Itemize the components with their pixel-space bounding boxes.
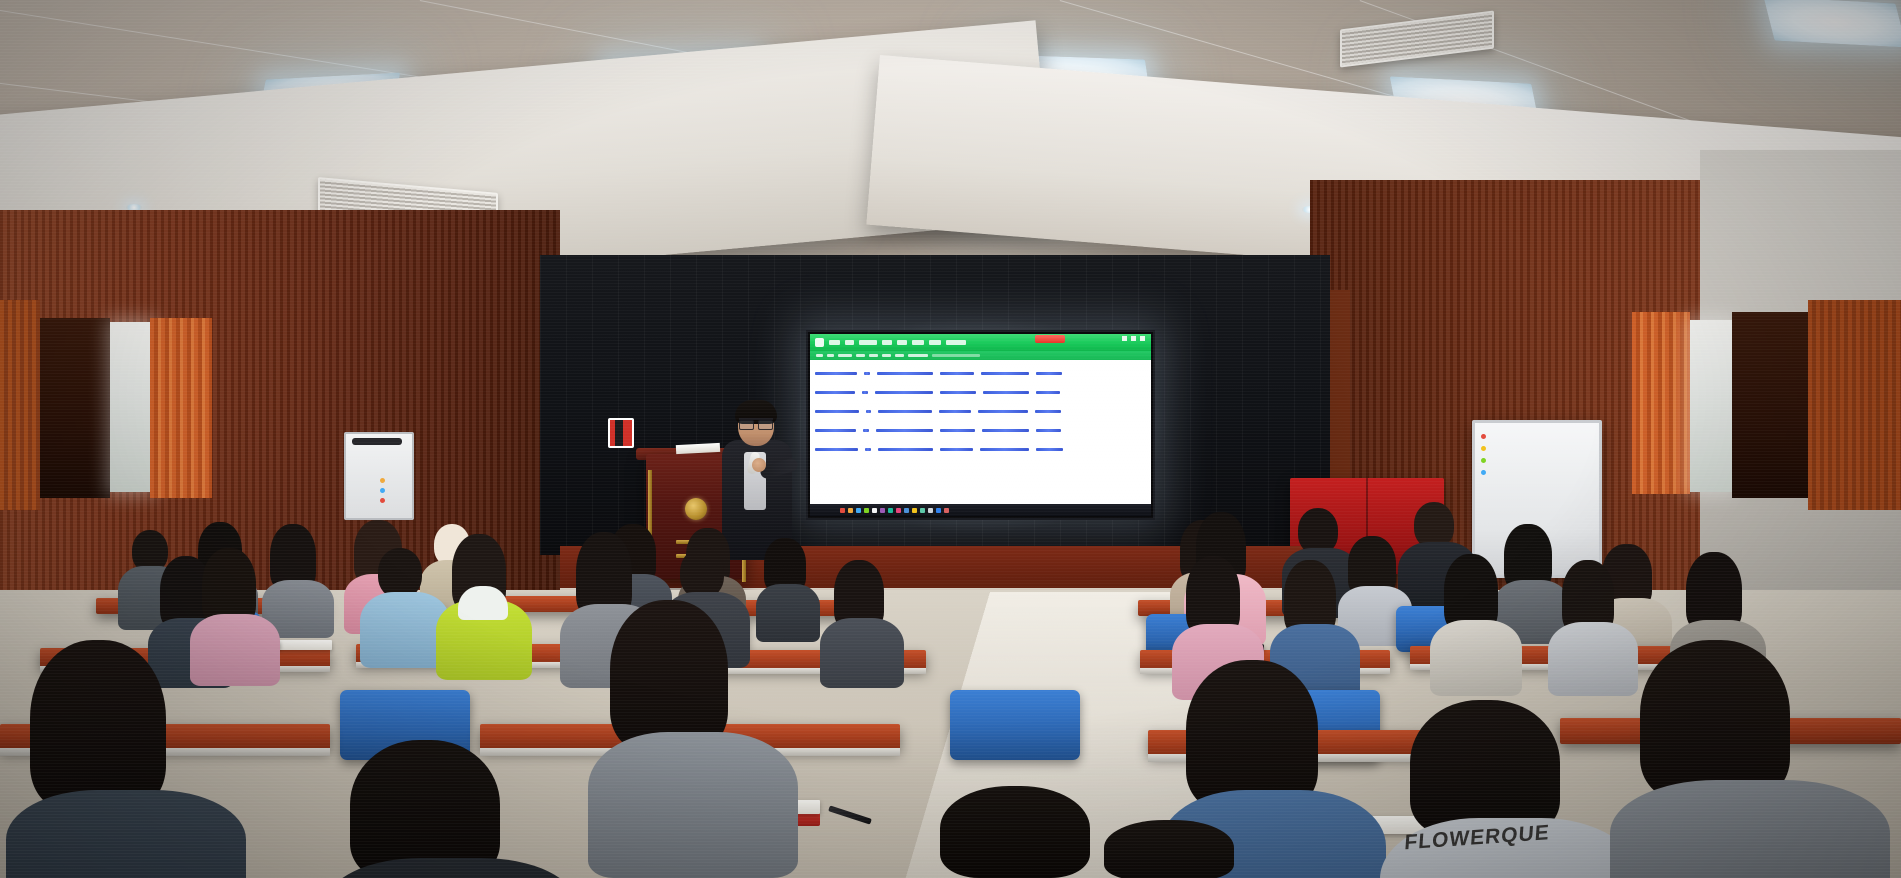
- toolbar-item[interactable]: [912, 340, 924, 345]
- magnet: [380, 478, 385, 483]
- projected-desktop: [810, 334, 1151, 516]
- app-subtoolbar[interactable]: [810, 351, 1151, 360]
- subtoolbar-item[interactable]: [869, 354, 878, 357]
- toolbar-item[interactable]: [859, 340, 877, 345]
- subtoolbar-item[interactable]: [856, 354, 865, 357]
- taskbar-icon[interactable]: [872, 508, 877, 513]
- taskbar-icon[interactable]: [912, 508, 917, 513]
- curtain: [0, 300, 40, 510]
- podium-emblem: [685, 498, 707, 520]
- table-row[interactable]: [815, 426, 1151, 435]
- toolbar-item[interactable]: [929, 340, 941, 345]
- subtoolbar-item[interactable]: [895, 354, 904, 357]
- taskbar-icon[interactable]: [840, 508, 845, 513]
- table-row[interactable]: [815, 388, 1151, 397]
- close-icon[interactable]: [1140, 336, 1145, 341]
- curtain: [150, 318, 212, 498]
- hood: [458, 586, 508, 620]
- minimize-icon[interactable]: [1122, 336, 1127, 341]
- curtain: [1808, 300, 1901, 510]
- table-row[interactable]: [815, 445, 1151, 454]
- notebook: [276, 640, 332, 650]
- magnet: [380, 488, 385, 493]
- taskbar-icon[interactable]: [896, 508, 901, 513]
- presenter-hand: [752, 458, 766, 472]
- magnet: [1481, 446, 1486, 451]
- subtoolbar-item[interactable]: [882, 354, 891, 357]
- toolbar-item[interactable]: [897, 340, 907, 345]
- taskbar-icon[interactable]: [888, 508, 893, 513]
- toolbar-item[interactable]: [946, 340, 966, 345]
- chair[interactable]: [950, 690, 1080, 760]
- magnet: [1481, 458, 1486, 463]
- flipchart-board: [344, 432, 414, 520]
- app-logo-icon: [815, 338, 824, 347]
- taskbar-icon[interactable]: [928, 508, 933, 513]
- app-content: [810, 360, 1151, 516]
- toolbar-item[interactable]: [829, 340, 840, 345]
- subtoolbar-item[interactable]: [816, 354, 823, 357]
- taskbar-icon[interactable]: [856, 508, 861, 513]
- toolbar-item[interactable]: [845, 340, 854, 345]
- wall-dark-panel: [38, 318, 110, 498]
- subtoolbar-item[interactable]: [908, 354, 928, 357]
- taskbar-icon[interactable]: [920, 508, 925, 513]
- curtain: [1632, 312, 1690, 494]
- taskbar-icon[interactable]: [936, 508, 941, 513]
- submit-button[interactable]: [1035, 335, 1065, 343]
- wall-dark-panel: [1732, 312, 1808, 498]
- toolbar-item[interactable]: [882, 340, 892, 345]
- taskbar-icon[interactable]: [904, 508, 909, 513]
- ceiling-light: [1763, 0, 1901, 47]
- table-row[interactable]: [815, 369, 1151, 378]
- subtoolbar-item[interactable]: [827, 354, 834, 357]
- taskbar-icon[interactable]: [880, 508, 885, 513]
- projection-screen: [806, 330, 1155, 520]
- app-toolbar[interactable]: [810, 334, 1151, 351]
- taskbar-icon[interactable]: [864, 508, 869, 513]
- subtoolbar-path: [932, 354, 980, 357]
- magnet: [1481, 434, 1486, 439]
- taskbar-icon[interactable]: [944, 508, 949, 513]
- maximize-icon[interactable]: [1131, 336, 1136, 341]
- flipchart-tray: [352, 438, 402, 445]
- window: [110, 322, 154, 492]
- subtoolbar-item[interactable]: [838, 354, 852, 357]
- fire-extinguisher-pole: [615, 420, 623, 446]
- window-controls[interactable]: [1122, 336, 1145, 341]
- magnet: [1481, 470, 1486, 475]
- lecture-hall-photo: FLOWERQUE Lecture hall training session …: [0, 0, 1901, 878]
- magnet: [380, 498, 385, 503]
- glasses-icon: [739, 418, 773, 428]
- taskbar-icon[interactable]: [848, 508, 853, 513]
- window: [1690, 320, 1732, 492]
- table-row[interactable]: [815, 407, 1151, 416]
- taskbar[interactable]: [810, 504, 1151, 516]
